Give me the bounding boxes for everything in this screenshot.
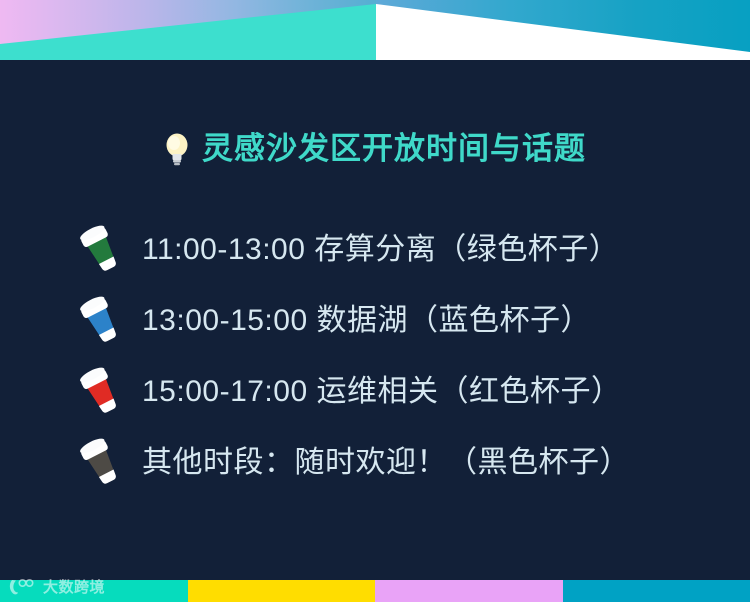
slide-canvas: 灵感沙发区开放时间与话题 11:00-13:00 存算分离（绿色杯子） [0,0,750,602]
coffee-cup-icon [70,219,132,281]
schedule-list: 11:00-13:00 存算分离（绿色杯子） 13:00-15:00 数据湖（蓝… [70,214,690,498]
bottom-bar-segment-blue [563,580,750,602]
coffee-cup-icon [70,290,132,352]
coffee-cup-icon [70,361,132,423]
bottom-bar-segment-pink [375,580,563,602]
lightbulb-icon [164,132,190,166]
list-item: 13:00-15:00 数据湖（蓝色杯子） [70,285,690,356]
slide-title-row: 灵感沙发区开放时间与话题 [0,132,750,166]
watermark-text: 大数跨境 [43,580,105,595]
watermark: 大数跨境 [8,578,105,596]
slide-title-text: 灵感沙发区开放时间与话题 [202,132,586,166]
brand-logo-icon [8,578,38,596]
schedule-item-text: 其他时段：随时欢迎！（黑色杯子） [142,448,630,478]
schedule-item-text: 11:00-13:00 存算分离（绿色杯子） [142,235,619,265]
coffee-cup-icon [70,432,132,494]
list-item: 15:00-17:00 运维相关（红色杯子） [70,356,690,427]
bottom-color-bar [0,580,750,602]
bottom-bar-segment-yellow [188,580,375,602]
schedule-item-text: 13:00-15:00 数据湖（蓝色杯子） [142,306,591,336]
top-banner [0,0,750,60]
list-item: 11:00-13:00 存算分离（绿色杯子） [70,214,690,285]
schedule-item-text: 15:00-17:00 运维相关（红色杯子） [142,377,621,407]
list-item: 其他时段：随时欢迎！（黑色杯子） [70,427,690,498]
